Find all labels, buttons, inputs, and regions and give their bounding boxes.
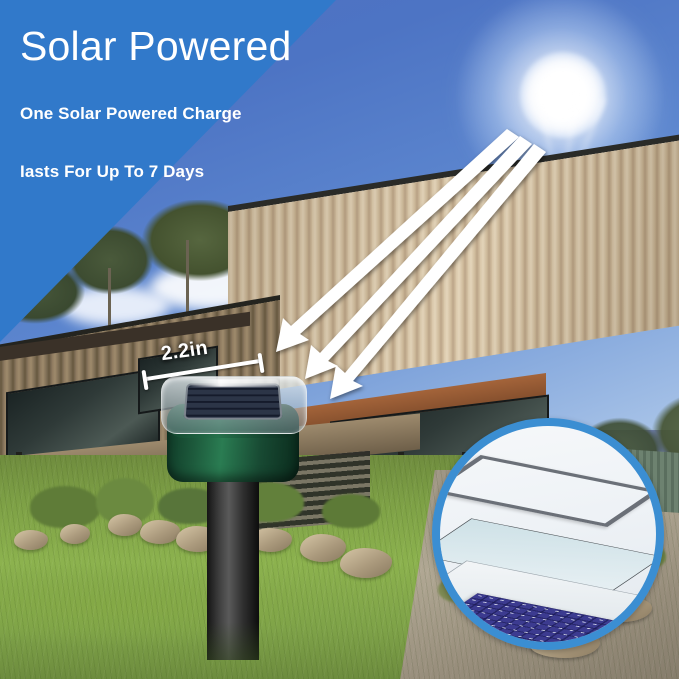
page-title: Solar Powered	[20, 26, 292, 67]
layer-aluminum-frame	[432, 455, 661, 527]
device-cover-highlight	[189, 379, 279, 387]
subtitle-line-2: Iasts For Up To 7 Days	[20, 162, 204, 182]
subtitle-line-1: One Solar Powered Charge	[20, 104, 242, 124]
solar-repeller-device: 2.2in	[155, 360, 315, 660]
device-solar-panel	[183, 384, 282, 420]
device-stake-ground-shadow	[207, 622, 259, 660]
solar-panel-layers-inset	[432, 418, 664, 650]
product-marketing-image: 2.2in Solar Powered One Solar Powered Ch…	[0, 0, 679, 679]
measurement-label: 2.2in	[160, 337, 210, 366]
